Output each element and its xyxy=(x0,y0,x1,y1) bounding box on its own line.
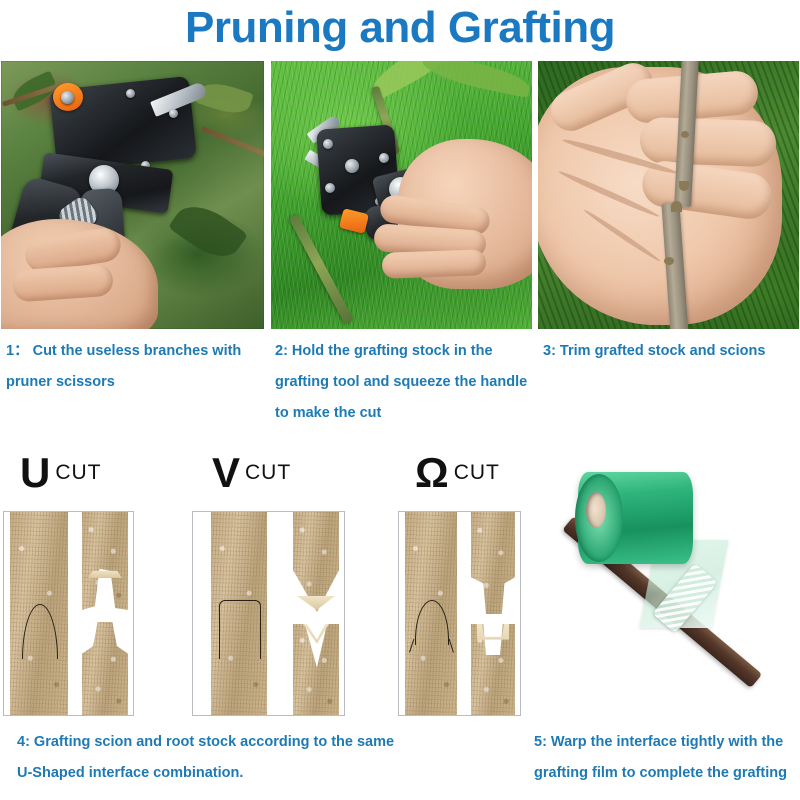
tool-screw xyxy=(169,109,178,118)
hand-grip xyxy=(398,139,532,289)
step-5-caption: 5: Warp the interface tightly with the g… xyxy=(534,727,794,789)
hand-holding-grafting-tool-on-grass-photo xyxy=(271,61,532,329)
omega-cut-diagram-panel xyxy=(398,511,521,716)
step-3-caption: 3: Trim grafted stock and scions xyxy=(543,336,799,367)
tool-screw xyxy=(325,183,335,193)
u-cut-label: UCUT xyxy=(20,452,102,494)
cut-surface xyxy=(297,596,335,610)
tool-screw xyxy=(345,159,359,173)
tool-screw xyxy=(126,89,135,98)
v-cut-glyph: V xyxy=(212,449,240,496)
tool-screw xyxy=(61,91,74,104)
palm-holding-grafted-stock-photo xyxy=(538,61,799,329)
finger xyxy=(12,264,114,303)
omega-cut-word: CUT xyxy=(454,461,500,484)
bark-piece-top-u xyxy=(82,512,128,610)
step-4-caption: 4: Grafting scion and root stock accordi… xyxy=(17,727,397,789)
tape-roll-core xyxy=(586,492,606,528)
omega-cut-label: ΩCUT xyxy=(415,452,500,494)
finger xyxy=(382,249,487,279)
tool-screw xyxy=(323,139,333,149)
green-grafting-tape-wrapping-branch-photo xyxy=(540,462,798,717)
v-cut-diagram-panel xyxy=(192,511,345,716)
bark-piece-bottom-v xyxy=(293,624,339,715)
page-title: Pruning and Grafting xyxy=(0,2,800,54)
graft-notch xyxy=(679,181,689,191)
tool-screw xyxy=(379,153,389,163)
bark-piece-bottom-u xyxy=(82,622,128,715)
v-cut-word: CUT xyxy=(245,461,291,484)
bud-scar xyxy=(681,131,689,138)
step-2-caption: 2: Hold the grafting stock in the grafti… xyxy=(275,336,533,429)
u-cut-glyph: U xyxy=(20,449,50,496)
u-cut-diagram-panel xyxy=(3,511,134,716)
omega-cut-glyph: Ω xyxy=(415,449,449,496)
infographic-page: Pruning and Grafting xyxy=(0,0,800,800)
palm-crease xyxy=(582,208,661,264)
bud-scar xyxy=(664,257,674,265)
bark-piece-top-omega xyxy=(471,512,515,614)
finger xyxy=(639,117,777,168)
graft-notch xyxy=(671,201,682,212)
cut-surface xyxy=(88,570,122,578)
open-palm xyxy=(538,67,782,325)
u-cut-word: CUT xyxy=(55,461,101,484)
grafting-pruner-over-foliage-photo xyxy=(1,61,264,329)
v-cut-outline xyxy=(219,600,261,659)
v-cut-label: VCUT xyxy=(212,452,291,494)
step-1-caption: 1： Cut the useless branches with pruner … xyxy=(6,336,268,398)
